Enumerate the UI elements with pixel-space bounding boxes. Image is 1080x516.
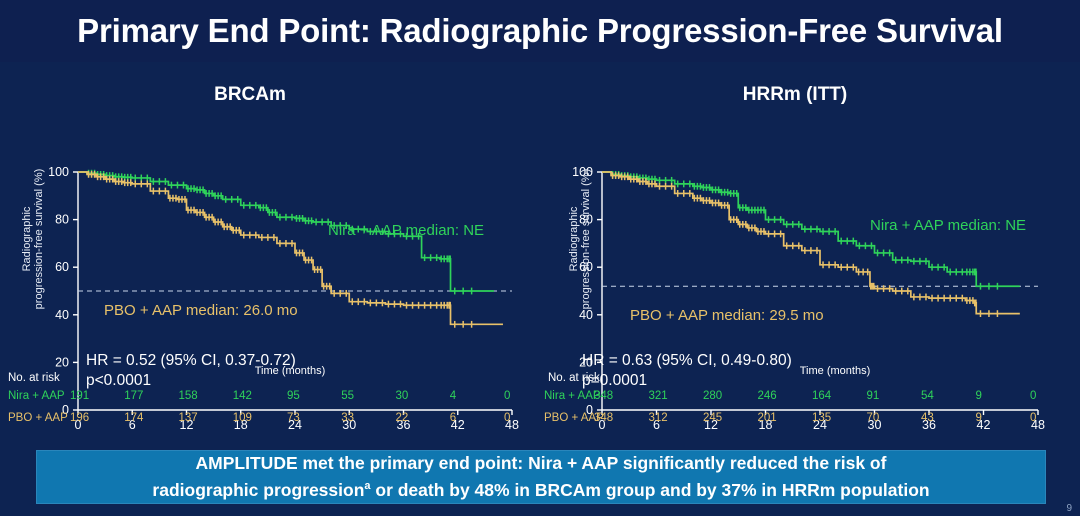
at-risk-cell: 142 xyxy=(233,390,273,402)
at-risk-cell: 201 xyxy=(758,412,798,424)
at-risk-cell: 191 xyxy=(70,390,110,402)
at-risk-cell: 245 xyxy=(703,412,743,424)
at-risk-cell: 73 xyxy=(287,412,327,424)
at-risk-cell: 91 xyxy=(867,390,907,402)
at-risk-row: Nira + AAP19117715814295553040 xyxy=(0,390,540,410)
y-axis-label-line1: Radiographic xyxy=(568,207,580,272)
at-risk-row-label: Nira + AAP xyxy=(8,390,65,402)
at-risk-cell: 54 xyxy=(921,390,961,402)
svg-text:40: 40 xyxy=(55,308,69,322)
at-risk-cell: 0 xyxy=(1030,412,1070,424)
at-risk-cell: 22 xyxy=(396,412,436,424)
at-risk-cell: 348 xyxy=(594,390,634,402)
at-risk-table-hrrm: No. at risk Nira + AAP348321280246164915… xyxy=(540,372,1080,438)
at-risk-cell: 246 xyxy=(758,390,798,402)
y-axis-label-line2: progression-free survival (%) xyxy=(33,169,45,310)
at-risk-cell: 312 xyxy=(649,412,689,424)
at-risk-cell: 9 xyxy=(976,390,1016,402)
at-risk-cell: 9 xyxy=(976,412,1016,424)
at-risk-cell: 55 xyxy=(341,390,381,402)
svg-text:60: 60 xyxy=(55,260,69,274)
at-risk-cell: 0 xyxy=(504,412,544,424)
svg-text:80: 80 xyxy=(55,213,69,227)
at-risk-cell: 70 xyxy=(867,412,907,424)
banner-line-2: radiographic progressiona or death by 48… xyxy=(152,475,929,502)
banner-line2-b: or death by 48% in BRCAm group and by 37… xyxy=(371,480,930,500)
at-risk-cell: 0 xyxy=(1030,390,1070,402)
at-risk-cell: 0 xyxy=(504,390,544,402)
slide-title-bar: Primary End Point: Radiographic Progress… xyxy=(0,0,1080,62)
at-risk-cell: 280 xyxy=(703,390,743,402)
at-risk-cell: 30 xyxy=(396,390,436,402)
at-risk-cell: 164 xyxy=(812,390,852,402)
y-axis-label-line1: Radiographic xyxy=(21,207,33,272)
at-risk-header-hrrm: No. at risk xyxy=(548,372,600,384)
at-risk-cell: 177 xyxy=(124,390,164,402)
svg-text:100: 100 xyxy=(48,165,69,179)
banner-line-1: AMPLITUDE met the primary end point: Nir… xyxy=(196,452,887,475)
banner-line2-a: radiographic progression xyxy=(152,480,364,500)
at-risk-cell: 137 xyxy=(179,412,219,424)
y-axis-label-hrrm: Radiographic progression-free survival (… xyxy=(568,144,592,334)
at-risk-cell: 4 xyxy=(450,390,490,402)
at-risk-cell: 43 xyxy=(921,412,961,424)
annotation-hazard-ratio-hrrm: HR = 0.63 (95% CI, 0.49-0.80) xyxy=(582,352,792,370)
conclusion-banner: AMPLITUDE met the primary end point: Nir… xyxy=(36,450,1046,504)
y-axis-label-brcam: Radiographic progression-free survival (… xyxy=(21,144,45,334)
at-risk-cell: 95 xyxy=(287,390,327,402)
at-risk-cell: 174 xyxy=(124,412,164,424)
at-risk-row: PBO + AAP19617413710973332260 xyxy=(0,412,540,432)
y-axis-label-line2: progression-free survival (%) xyxy=(580,169,592,310)
at-risk-header-brcam: No. at risk xyxy=(8,372,60,384)
at-risk-cell: 135 xyxy=(812,412,852,424)
page-number: 9 xyxy=(1066,503,1072,514)
annotation-pbo-median-brcam: PBO + AAP median: 26.0 mo xyxy=(104,302,298,319)
slide: Primary End Point: Radiographic Progress… xyxy=(0,0,1080,516)
at-risk-table-brcam: No. at risk Nira + AAP191177158142955530… xyxy=(0,372,540,438)
page-title: Primary End Point: Radiographic Progress… xyxy=(77,12,1003,50)
at-risk-cell: 6 xyxy=(450,412,490,424)
at-risk-cell: 348 xyxy=(594,412,634,424)
annotation-pbo-median-hrrm: PBO + AAP median: 29.5 mo xyxy=(630,307,824,324)
at-risk-row: Nira + AAP348321280246164915490 xyxy=(540,390,1080,410)
at-risk-row-label: PBO + AAP xyxy=(8,412,68,424)
at-risk-cell: 321 xyxy=(649,390,689,402)
at-risk-row-label: Nira + AAP xyxy=(544,390,601,402)
at-risk-cell: 33 xyxy=(341,412,381,424)
annotation-nira-median-hrrm: Nira + AAP median: NE xyxy=(870,217,1026,234)
at-risk-cell: 109 xyxy=(233,412,273,424)
at-risk-cell: 158 xyxy=(179,390,219,402)
annotation-nira-median-brcam: Nira + AAP median: NE xyxy=(328,222,484,239)
svg-text:20: 20 xyxy=(55,355,69,369)
at-risk-row: PBO + AAP348312245201135704390 xyxy=(540,412,1080,432)
at-risk-cell: 196 xyxy=(70,412,110,424)
annotation-hazard-ratio-brcam: HR = 0.52 (95% CI, 0.37-0.72) xyxy=(86,352,296,370)
